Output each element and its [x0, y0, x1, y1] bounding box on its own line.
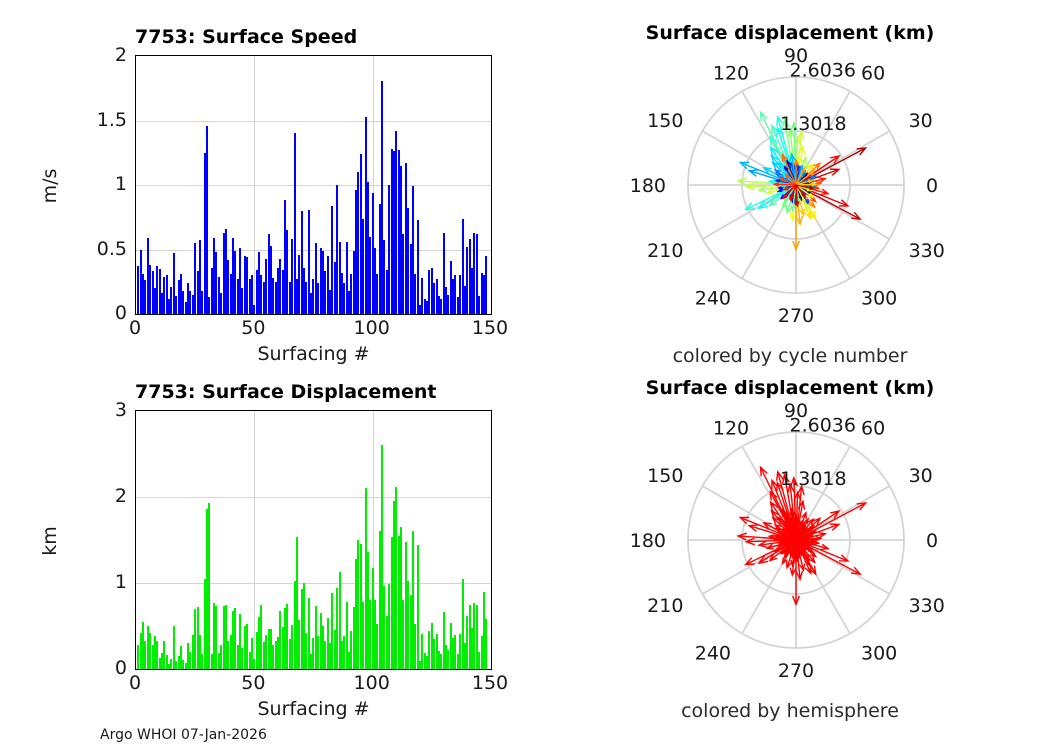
polar-theta-label: 210: [647, 240, 683, 262]
y-tick-label: 3: [55, 399, 127, 421]
y-tick-label: 1: [55, 173, 127, 195]
bar: [417, 220, 419, 314]
polar-theta-label: 300: [861, 643, 897, 665]
polar-r-label: 2.6036: [790, 415, 856, 437]
polar-theta-label: 60: [861, 417, 885, 439]
polar-cycle-panel: Surface displacement (km) 03060901201501…: [530, 0, 1050, 375]
polar-theta-label: 150: [647, 110, 683, 132]
polar-cycle-plot: 03060901201501802102402703003301.30182.6…: [550, 40, 1010, 340]
displacement-x-axis-label: Surfacing #: [135, 698, 492, 720]
y-tick-label: 2: [55, 485, 127, 507]
surface-speed-panel: 7753: Surface Speed m/s Surfacing # 0501…: [0, 0, 520, 375]
y-tick-label: 0: [55, 302, 127, 324]
polar-theta-label: 180: [630, 175, 666, 197]
polar-hemisphere-caption: colored by hemisphere: [580, 700, 1000, 722]
polar-theta-label: 270: [778, 305, 814, 327]
bar: [485, 619, 487, 669]
polar-r-label: 2.6036: [790, 60, 856, 82]
x-tick-label: 100: [354, 317, 390, 339]
bar: [485, 256, 487, 314]
y-tick-label: 1: [55, 571, 127, 593]
speed-plot-area: [135, 55, 492, 315]
y-tick-label: 0.5: [55, 238, 127, 260]
x-tick-label: 50: [241, 672, 265, 694]
x-tick-label: 0: [129, 672, 141, 694]
polar-r-label: 1.3018: [780, 468, 846, 490]
bar-series: [136, 56, 491, 314]
footer-credit: Argo WHOI 07-Jan-2026: [100, 727, 267, 743]
vector-shaft: [774, 184, 796, 185]
polar-theta-label: 330: [909, 240, 945, 262]
polar-theta-label: 240: [695, 643, 731, 665]
polar-theta-label: 60: [861, 62, 885, 84]
bar-series: [136, 411, 491, 669]
polar-theta-label: 0: [926, 175, 938, 197]
polar-theta-label: 330: [909, 595, 945, 617]
polar-theta-label: 240: [695, 288, 731, 310]
x-tick-label: 150: [472, 672, 508, 694]
y-tick-label: 2: [55, 44, 127, 66]
polar-theta-label: 30: [909, 110, 933, 132]
polar-theta-label: 30: [909, 465, 933, 487]
bar: [417, 545, 419, 669]
vector-shaft: [774, 539, 796, 540]
polar-theta-label: 120: [713, 417, 749, 439]
polar-hemisphere-plot: 03060901201501802102402703003301.30182.6…: [550, 395, 1010, 695]
x-tick-label: 150: [472, 317, 508, 339]
bar: [208, 503, 210, 669]
polar-theta-label: 0: [926, 530, 938, 552]
polar-r-label: 1.3018: [780, 113, 846, 135]
x-tick-label: 0: [129, 317, 141, 339]
bar: [206, 126, 208, 314]
x-tick-label: 100: [354, 672, 390, 694]
x-tick-label: 50: [241, 317, 265, 339]
surface-displacement-panel: 7753: Surface Displacement km Surfacing …: [0, 355, 520, 750]
polar-theta-label: 210: [647, 595, 683, 617]
y-tick-label: 1.5: [55, 109, 127, 131]
y-tick-label: 0: [55, 657, 127, 679]
polar-theta-label: 120: [713, 62, 749, 84]
polar-hemisphere-panel: Surface displacement (km) 03060901201501…: [530, 355, 1050, 750]
polar-theta-label: 180: [630, 530, 666, 552]
polar-theta-label: 300: [861, 288, 897, 310]
polar-theta-label: 270: [778, 660, 814, 682]
polar-theta-label: 150: [647, 465, 683, 487]
displacement-plot-area: [135, 410, 492, 670]
